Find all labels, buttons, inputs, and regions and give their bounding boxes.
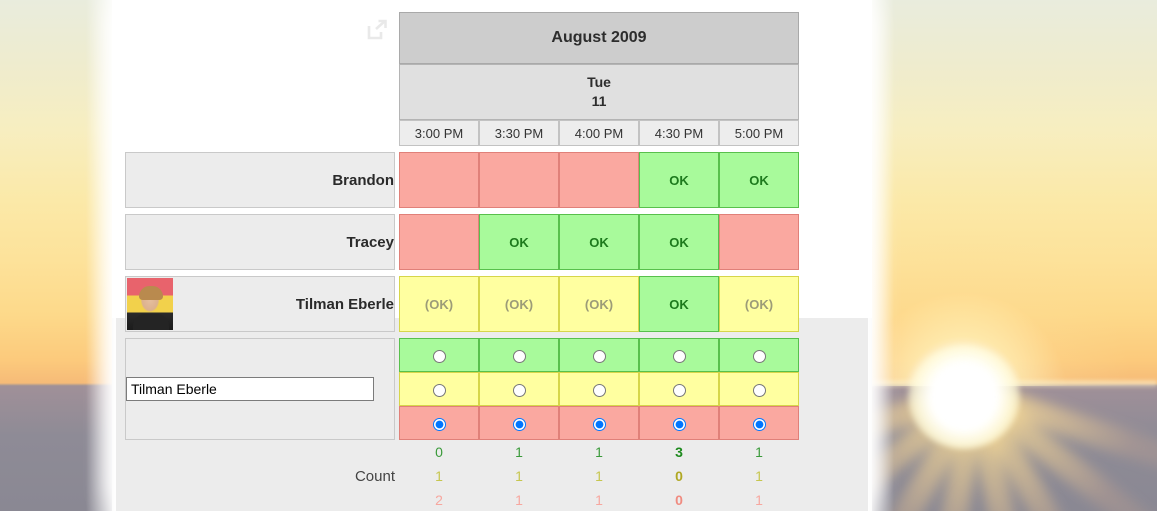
avatar-body <box>133 314 169 330</box>
vote-yes-radio[interactable] <box>673 350 686 363</box>
time-header-cell-2: 4:00 PM <box>559 120 639 146</box>
vote-no-cell[interactable] <box>559 406 639 440</box>
vote-yes-radio[interactable] <box>593 350 606 363</box>
vote-maybe-cell[interactable] <box>399 372 479 406</box>
count-no-cell: 0 <box>639 488 719 512</box>
vote-no-radio[interactable] <box>673 418 686 431</box>
response-cell <box>399 152 479 208</box>
vote-yes-radio[interactable] <box>753 350 766 363</box>
availability-grid: August 2009 Tue 11 3:00 PM 3:30 PM 4:00 … <box>125 12 799 512</box>
response-cell <box>399 214 479 270</box>
grid-corner-blank <box>125 12 395 64</box>
response-label: (OK) <box>505 297 533 312</box>
response-cell: OK <box>719 152 799 208</box>
time-header-cell-1: 3:30 PM <box>479 120 559 146</box>
response-cell: OK <box>479 214 559 270</box>
participant-name: Tracey <box>346 234 394 251</box>
response-cell: (OK) <box>399 276 479 332</box>
vote-yes-radio[interactable] <box>513 350 526 363</box>
count-yes-cell: 1 <box>559 440 639 464</box>
vote-maybe-cell[interactable] <box>719 372 799 406</box>
count-no-cell: 1 <box>559 488 639 512</box>
response-label: (OK) <box>425 297 453 312</box>
vote-no-radio[interactable] <box>593 418 606 431</box>
day-label: Tue 11 <box>399 64 799 120</box>
vote-maybe-radio[interactable] <box>513 384 526 397</box>
time-header-cell-4: 5:00 PM <box>719 120 799 146</box>
participant-name: Tilman Eberle <box>296 296 394 313</box>
count-no-cell: 1 <box>719 488 799 512</box>
vote-maybe-radio[interactable] <box>433 384 446 397</box>
vote-maybe-cell[interactable] <box>479 372 559 406</box>
participant-row: Tilman Eberle (OK) (OK) (OK) OK (OK) <box>125 276 799 332</box>
vote-maybe-radio[interactable] <box>673 384 686 397</box>
vote-maybe-radio[interactable] <box>753 384 766 397</box>
background-sun <box>908 345 1020 449</box>
vote-yes-cell[interactable] <box>719 338 799 372</box>
count-no-cell: 2 <box>399 488 479 512</box>
participant-name-cell: Tilman Eberle <box>125 276 395 332</box>
vote-yes-cell[interactable] <box>479 338 559 372</box>
count-yes-cell: 1 <box>719 440 799 464</box>
month-label: August 2009 <box>399 12 799 64</box>
response-cell: OK <box>639 214 719 270</box>
day-weekday: Tue <box>400 73 798 92</box>
vote-maybe-radio[interactable] <box>593 384 606 397</box>
vote-yes-cell[interactable] <box>399 338 479 372</box>
avatar-hair <box>139 286 163 300</box>
vote-maybe-cell[interactable] <box>559 372 639 406</box>
external-link-icon[interactable] <box>366 19 388 41</box>
count-maybe-cell: 0 <box>639 464 719 488</box>
response-cell: (OK) <box>559 276 639 332</box>
count-row-yes: Count 0 1 1 3 1 <box>125 440 799 464</box>
vote-no-cell[interactable] <box>399 406 479 440</box>
count-yes-cell: 0 <box>399 440 479 464</box>
vote-no-radio[interactable] <box>753 418 766 431</box>
count-maybe-cell: 1 <box>479 464 559 488</box>
response-cell <box>719 214 799 270</box>
grid-corner-blank-2 <box>125 64 395 120</box>
day-number: 11 <box>400 92 798 111</box>
day-header-row: Tue 11 <box>125 64 799 120</box>
participant-row: Brandon OK OK <box>125 152 799 208</box>
count-maybe-cell: 1 <box>559 464 639 488</box>
count-maybe-cell: 1 <box>399 464 479 488</box>
time-header-row: 3:00 PM 3:30 PM 4:00 PM 4:30 PM 5:00 PM <box>125 120 799 146</box>
time-header-cell-3: 4:30 PM <box>639 120 719 146</box>
count-label: Count <box>125 440 395 512</box>
name-input-cell <box>125 338 395 440</box>
entry-row-yes <box>125 338 799 372</box>
vote-yes-radio[interactable] <box>433 350 446 363</box>
response-label: (OK) <box>585 297 613 312</box>
response-cell: OK <box>639 152 719 208</box>
participant-row: Tracey OK OK OK <box>125 214 799 270</box>
vote-no-cell[interactable] <box>639 406 719 440</box>
vote-no-cell[interactable] <box>479 406 559 440</box>
response-cell: OK <box>559 214 639 270</box>
response-label: (OK) <box>745 297 773 312</box>
vote-no-radio[interactable] <box>433 418 446 431</box>
time-header-cell-0: 3:00 PM <box>399 120 479 146</box>
month-header-row: August 2009 <box>125 12 799 64</box>
response-cell <box>559 152 639 208</box>
participant-name: Brandon <box>332 172 394 189</box>
response-cell: (OK) <box>479 276 559 332</box>
count-maybe-cell: 1 <box>719 464 799 488</box>
vote-yes-cell[interactable] <box>639 338 719 372</box>
participant-name-cell: Brandon <box>125 152 395 208</box>
participant-name-cell: Tracey <box>125 214 395 270</box>
response-cell: OK <box>639 276 719 332</box>
response-cell: (OK) <box>719 276 799 332</box>
name-input[interactable] <box>126 377 374 401</box>
vote-no-cell[interactable] <box>719 406 799 440</box>
grid-corner-blank-3 <box>125 120 395 146</box>
avatar <box>127 278 173 330</box>
vote-maybe-cell[interactable] <box>639 372 719 406</box>
count-yes-cell: 3 <box>639 440 719 464</box>
vote-yes-cell[interactable] <box>559 338 639 372</box>
response-cell <box>479 152 559 208</box>
count-no-cell: 1 <box>479 488 559 512</box>
count-yes-cell: 1 <box>479 440 559 464</box>
vote-no-radio[interactable] <box>513 418 526 431</box>
